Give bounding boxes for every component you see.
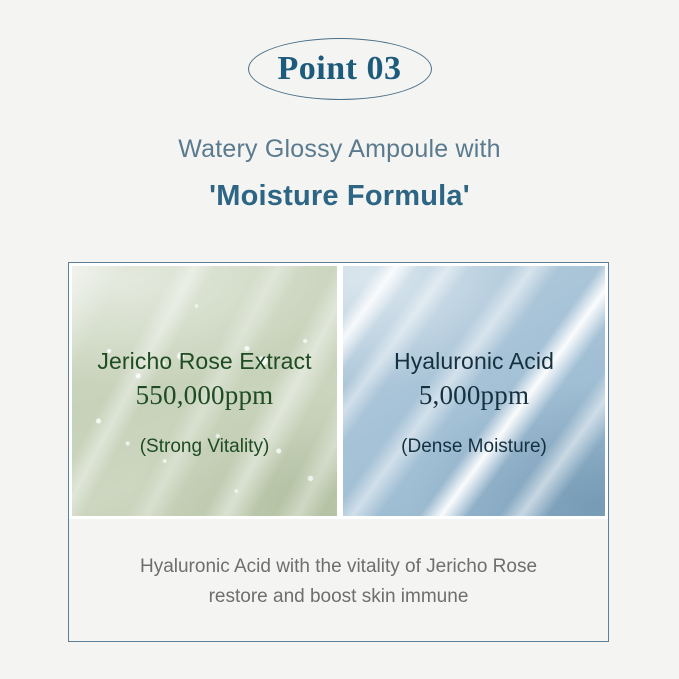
caption-block: Hyaluronic Acid with the vitality of Jer… <box>68 552 609 612</box>
ingredient-name-hyaluronic-acid: Hyaluronic Acid <box>343 348 605 375</box>
heading-line-1: Watery Glossy Ampoule with <box>0 135 679 164</box>
heading-line-2: 'Moisture Formula' <box>0 180 679 213</box>
ingredient-panel-hyaluronic-acid: Hyaluronic Acid 5,000ppm (Dense Moisture… <box>340 263 608 519</box>
badge-label: Point 03 <box>278 50 402 87</box>
ingredient-note-hyaluronic-acid: (Dense Moisture) <box>343 436 605 458</box>
point-badge: Point 03 <box>248 38 432 100</box>
point-badge-container: Point 03 <box>0 38 679 100</box>
ingredient-panel-jericho-rose: Jericho Rose Extract 550,000ppm (Strong … <box>69 263 340 519</box>
ingredient-note-jericho-rose: (Strong Vitality) <box>72 436 337 458</box>
ingredient-name-jericho-rose: Jericho Rose Extract <box>72 348 337 375</box>
ingredient-panels: Jericho Rose Extract 550,000ppm (Strong … <box>69 263 608 519</box>
caption-line-2: restore and boost skin immune <box>68 582 609 612</box>
ingredient-amount-hyaluronic-acid: 5,000ppm <box>343 380 605 411</box>
ingredient-amount-jericho-rose: 550,000ppm <box>72 380 337 411</box>
panel-image-blue-water: Hyaluronic Acid 5,000ppm (Dense Moisture… <box>343 266 605 516</box>
panel-image-green-gel: Jericho Rose Extract 550,000ppm (Strong … <box>72 266 337 516</box>
caption-line-1: Hyaluronic Acid with the vitality of Jer… <box>68 552 609 582</box>
